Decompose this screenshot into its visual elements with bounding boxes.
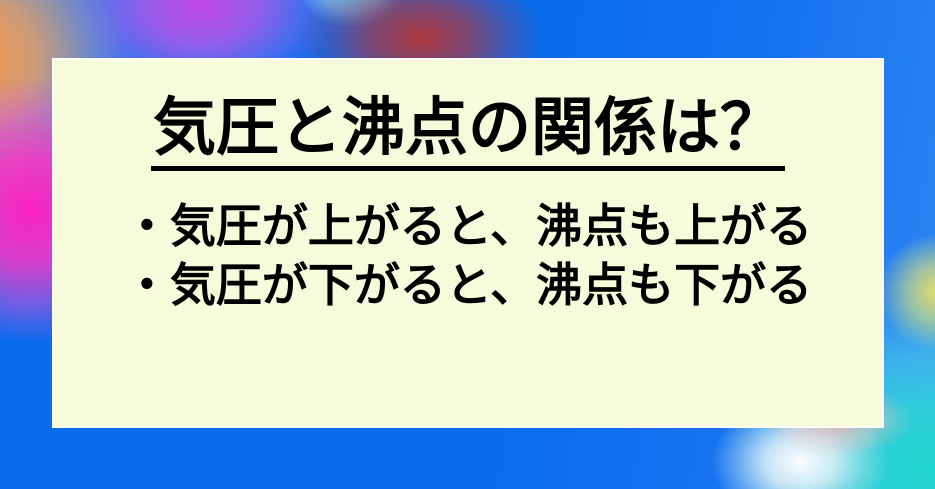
- bullet-item-2: ・ 気圧が下がると、沸点も下がる: [124, 256, 812, 315]
- bullet-marker-icon: ・: [124, 197, 170, 256]
- bullet-marker-icon: ・: [124, 256, 170, 315]
- bullet-item-1-label: 気圧が上がると、沸点も上がる: [170, 197, 812, 256]
- bullet-item-2-label: 気圧が下がると、沸点も下がる: [170, 256, 812, 315]
- bullet-item-1: ・ 気圧が上がると、沸点も上がる: [124, 197, 812, 256]
- content-card: 気圧と沸点の関係は？ ・ 気圧が上がると、沸点も上がる ・ 気圧が下がると、沸点…: [52, 58, 884, 428]
- slide-title: 気圧と沸点の関係は？: [151, 96, 785, 171]
- slide-canvas: 気圧と沸点の関係は？ ・ 気圧が上がると、沸点も上がる ・ 気圧が下がると、沸点…: [0, 0, 935, 489]
- bullet-list: ・ 気圧が上がると、沸点も上がる ・ 気圧が下がると、沸点も下がる: [124, 197, 812, 315]
